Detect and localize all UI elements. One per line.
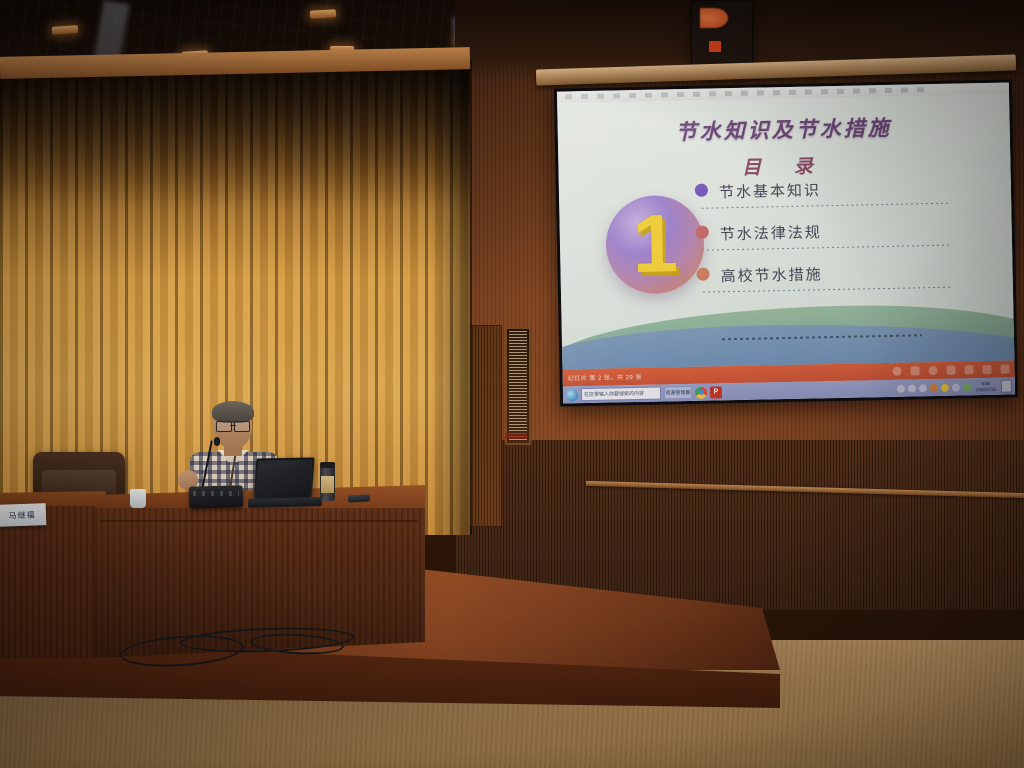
search-input[interactable]: 在这里输入你要搜索的内容 xyxy=(581,387,661,402)
slide-canvas: 节水知识及节水措施 目 录 1 节水基本知识 节水法律法规 xyxy=(557,93,1014,369)
tray-icon[interactable] xyxy=(941,383,949,391)
speaker-badge-icon xyxy=(709,41,721,52)
glasses-bridge xyxy=(230,425,236,426)
laptop-display xyxy=(256,460,313,501)
clock-date: 2020/7/15 xyxy=(974,386,998,392)
tray-icon[interactable] xyxy=(930,383,938,391)
fit-slide-icon[interactable] xyxy=(964,365,973,374)
name-placard: 马继福 xyxy=(0,503,46,527)
agenda-item-label: 节水法律法规 xyxy=(710,218,970,244)
wall-control-niche[interactable] xyxy=(505,327,531,445)
taskbar-clock[interactable]: 8:56 2020/7/15 xyxy=(974,381,998,392)
mobile-phone xyxy=(348,494,370,502)
slide-counter-label: 幻灯片 第 2 张，共 29 张 xyxy=(568,372,643,382)
show-desktop-button[interactable] xyxy=(1001,379,1012,392)
presenter-hair xyxy=(212,401,254,423)
sorter-view-icon[interactable] xyxy=(911,366,920,375)
slideshow-view-icon[interactable] xyxy=(946,366,955,375)
tray-icon[interactable] xyxy=(897,384,905,392)
bullet-dot-icon xyxy=(696,268,709,281)
start-button-icon[interactable] xyxy=(566,389,578,401)
microphone-head-icon xyxy=(214,437,220,446)
glasses-lens-right xyxy=(234,421,250,432)
bullet-dot-icon xyxy=(695,184,708,197)
taskbar-chip[interactable]: 资源管理器 xyxy=(664,386,692,400)
side-desk-body xyxy=(0,506,106,658)
projection-surface: 节水知识及节水措施 目 录 1 节水基本知识 节水法律法规 xyxy=(557,82,1015,403)
chapter-number: 1 xyxy=(605,195,705,295)
list-item: 节水法律法规 xyxy=(710,218,971,265)
laptop-keyboard[interactable] xyxy=(248,497,322,508)
zoom-in-icon[interactable] xyxy=(1000,365,1009,374)
desk-panel-seam xyxy=(100,520,418,522)
reading-view-icon[interactable] xyxy=(929,366,938,375)
search-placeholder: 在这里输入你要搜索的内容 xyxy=(584,390,644,398)
glasses-icon xyxy=(216,421,250,430)
projection-screen: 节水知识及节水措施 目 录 1 节水基本知识 节水法律法规 xyxy=(554,79,1018,406)
glasses-lens-left xyxy=(216,421,232,432)
name-placard-label: 马继福 xyxy=(8,509,35,521)
view-controls[interactable] xyxy=(893,365,1010,376)
curtain-top-shadow xyxy=(0,60,470,210)
console-buttons[interactable] xyxy=(193,491,239,496)
ceiling-light xyxy=(310,9,336,18)
tray-icon[interactable] xyxy=(919,384,927,392)
curtain-right-shadow xyxy=(430,60,472,535)
agenda-leader-line xyxy=(703,287,953,293)
lecture-hall-photo: 节水知识及节水措施 目 录 1 节水基本知识 节水法律法规 xyxy=(0,0,1024,768)
system-tray[interactable]: 8:56 2020/7/15 xyxy=(897,379,1012,394)
slide-title: 节水知识及节水措施 xyxy=(557,109,1010,148)
chapter-number-sphere: 1 xyxy=(605,195,705,295)
agenda-list: 节水基本知识 节水法律法规 高校节水措施 xyxy=(709,176,971,307)
agenda-leader-line xyxy=(702,245,952,251)
water-cup xyxy=(130,489,146,508)
list-item: 节水基本知识 xyxy=(709,176,970,223)
thermos-cap xyxy=(320,462,335,468)
bullet-dot-icon xyxy=(696,226,709,239)
thermos-label xyxy=(321,476,334,493)
zoom-out-icon[interactable] xyxy=(982,365,991,374)
agenda-leader-line xyxy=(701,203,951,209)
speaker-logo-icon xyxy=(700,8,728,28)
agenda-item-label: 节水基本知识 xyxy=(709,176,969,202)
powerpoint-icon[interactable]: P xyxy=(710,386,722,398)
normal-view-icon[interactable] xyxy=(893,367,902,376)
tray-icon[interactable] xyxy=(952,383,960,391)
desk-grain-texture xyxy=(0,506,106,658)
control-console[interactable] xyxy=(189,485,244,508)
agenda-item-label: 高校节水措施 xyxy=(710,260,970,286)
niche-louver-texture xyxy=(509,331,527,441)
chrome-icon[interactable] xyxy=(695,386,707,398)
tray-icon[interactable] xyxy=(908,384,916,392)
laptop-screen xyxy=(253,457,314,502)
list-item: 高校节水措施 xyxy=(710,260,971,307)
niche-indicator xyxy=(505,433,527,439)
tray-icon[interactable] xyxy=(963,383,971,391)
